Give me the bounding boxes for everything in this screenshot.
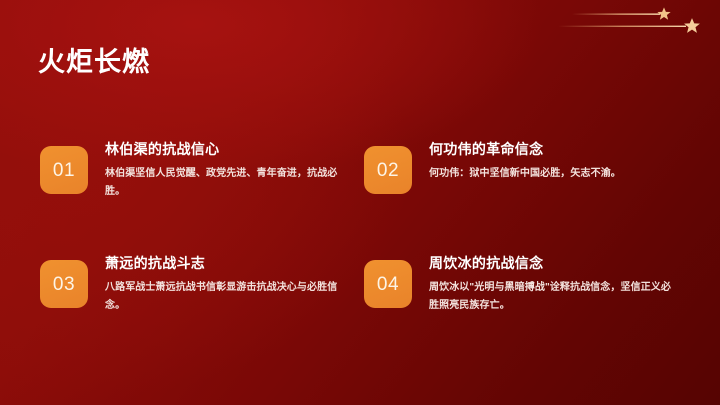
card-body: 何功伟的革命信念 何功伟：狱中坚信新中国必胜，矢志不渝。 xyxy=(412,140,688,183)
list-item: 04 周饮冰的抗战信念 周饮冰以"光明与黑暗搏战"诠释抗战信念，坚信正义必胜照亮… xyxy=(364,254,688,368)
card-body: 萧远的抗战斗志 八路军战士萧远抗战书信彰显游击抗战决心与必胜信念。 xyxy=(88,254,364,314)
list-item: 02 何功伟的革命信念 何功伟：狱中坚信新中国必胜，矢志不渝。 xyxy=(364,140,688,254)
card-number-badge: 03 xyxy=(40,260,88,308)
card-number-label: 01 xyxy=(53,161,75,180)
card-number-badge: 04 xyxy=(364,260,412,308)
card-description: 周饮冰以"光明与黑暗搏战"诠释抗战信念，坚信正义必胜照亮民族存亡。 xyxy=(429,279,674,314)
card-number-label: 03 xyxy=(53,275,75,294)
card-description: 八路军战士萧远抗战书信彰显游击抗战决心与必胜信念。 xyxy=(105,279,350,314)
star-icon xyxy=(684,18,700,33)
slide-root: 火炬长燃 01 林伯渠的抗战信心 林伯渠坚信人民觉醒、政党先进、青年奋进，抗战必… xyxy=(0,0,720,405)
card-number-label: 02 xyxy=(377,161,399,180)
card-body: 周饮冰的抗战信念 周饮冰以"光明与黑暗搏战"诠释抗战信念，坚信正义必胜照亮民族存… xyxy=(412,254,688,314)
card-title: 萧远的抗战斗志 xyxy=(105,254,364,272)
card-title: 周饮冰的抗战信念 xyxy=(429,254,688,272)
card-number-label: 04 xyxy=(377,275,399,294)
page-title: 火炬长燃 xyxy=(38,46,150,80)
card-description: 何功伟：狱中坚信新中国必胜，矢志不渝。 xyxy=(429,165,674,183)
shooting-stars-graphic xyxy=(550,0,720,48)
card-body: 林伯渠的抗战信心 林伯渠坚信人民觉醒、政党先进、青年奋进，抗战必胜。 xyxy=(88,140,364,200)
card-description: 林伯渠坚信人民觉醒、政党先进、青年奋进，抗战必胜。 xyxy=(105,165,350,200)
list-item: 03 萧远的抗战斗志 八路军战士萧远抗战书信彰显游击抗战决心与必胜信念。 xyxy=(40,254,364,368)
card-number-badge: 01 xyxy=(40,146,88,194)
card-number-badge: 02 xyxy=(364,146,412,194)
list-item: 01 林伯渠的抗战信心 林伯渠坚信人民觉醒、政党先进、青年奋进，抗战必胜。 xyxy=(40,140,364,254)
cards-grid: 01 林伯渠的抗战信心 林伯渠坚信人民觉醒、政党先进、青年奋进，抗战必胜。 02… xyxy=(40,140,688,368)
decorative-shooting-stars xyxy=(550,0,720,48)
card-title: 何功伟的革命信念 xyxy=(429,140,688,158)
card-title: 林伯渠的抗战信心 xyxy=(105,140,364,158)
star-icon xyxy=(657,7,670,19)
